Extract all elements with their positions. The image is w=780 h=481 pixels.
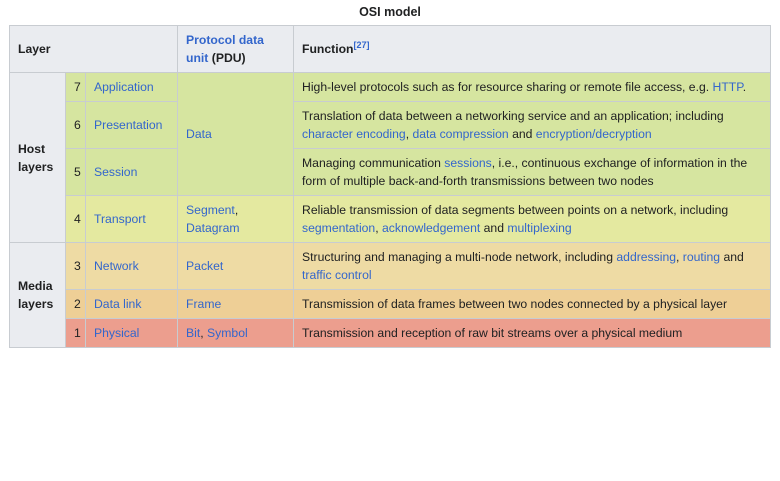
layer-name-data-link[interactable]: Data link [86, 290, 178, 319]
function-6-link-1[interactable]: character encoding [302, 127, 406, 141]
function-7-link-1[interactable]: HTTP [713, 80, 743, 94]
pdu-2-link-0[interactable]: Frame [186, 297, 221, 311]
table-row: 2Data linkFrameTransmission of data fram… [10, 290, 771, 319]
osi-model-table: Layer Protocol data unit (PDU) Function[… [9, 25, 771, 348]
function-3-text-4: and [720, 250, 744, 264]
layer-name-link[interactable]: Session [94, 165, 137, 179]
function-7-text-2: . [743, 80, 746, 94]
layer-name-network[interactable]: Network [86, 243, 178, 290]
layer-name-link[interactable]: Application [94, 80, 154, 94]
pdu-3-link-0[interactable]: Packet [186, 259, 223, 273]
reference-marker-27[interactable]: [27] [353, 40, 369, 50]
function-1-text-0: Transmission and reception of raw bit st… [302, 326, 682, 340]
table-body: Host layers7ApplicationDataHigh-level pr… [10, 73, 771, 348]
layer-number-5: 5 [66, 149, 86, 196]
function-4-text-4: and [480, 221, 507, 235]
function-layer-7: High-level protocols such as for resourc… [294, 73, 771, 102]
pdu-4-link-0[interactable]: Segment [186, 203, 235, 217]
function-layer-1: Transmission and reception of raw bit st… [294, 319, 771, 348]
layer-number-2: 2 [66, 290, 86, 319]
pdu-layer-1[interactable]: Bit, Symbol [178, 319, 294, 348]
function-5-link-1[interactable]: sessions [444, 156, 491, 170]
layer-name-link[interactable]: Physical [94, 326, 139, 340]
pdu-layer-4[interactable]: Segment, Datagram [178, 196, 294, 243]
layer-number-4: 4 [66, 196, 86, 243]
function-5-text-0: Managing communication [302, 156, 444, 170]
function-layer-2: Transmission of data frames between two … [294, 290, 771, 319]
layer-number-6: 6 [66, 102, 86, 149]
pdu-1-link-0[interactable]: Bit [186, 326, 200, 340]
function-3-text-2: , [676, 250, 683, 264]
column-header-pdu: Protocol data unit (PDU) [178, 26, 294, 73]
function-6-link-5[interactable]: encryption/decryption [536, 127, 652, 141]
table-row: 5SessionManaging communication sessions,… [10, 149, 771, 196]
layer-name-link[interactable]: Presentation [94, 118, 162, 132]
pdu-4-link-2[interactable]: Datagram [186, 221, 240, 235]
pdu-layer-3[interactable]: Packet [178, 243, 294, 290]
function-2-text-0: Transmission of data frames between two … [302, 297, 727, 311]
pdu-1-link-2[interactable]: Symbol [207, 326, 248, 340]
function-6-text-4: and [509, 127, 536, 141]
layer-name-session[interactable]: Session [86, 149, 178, 196]
function-3-link-1[interactable]: addressing [616, 250, 676, 264]
function-4-text-2: , [375, 221, 382, 235]
table-caption: OSI model [9, 0, 771, 25]
function-layer-3: Structuring and managing a multi-node ne… [294, 243, 771, 290]
layer-name-transport[interactable]: Transport [86, 196, 178, 243]
table-row: 6PresentationTranslation of data between… [10, 102, 771, 149]
pdu-data[interactable]: Data [178, 73, 294, 196]
function-layer-6: Translation of data between a networking… [294, 102, 771, 149]
layer-name-link[interactable]: Data link [94, 297, 141, 311]
function-layer-5: Managing communication sessions, i.e., c… [294, 149, 771, 196]
layer-name-link[interactable]: Network [94, 259, 139, 273]
function-7-text-0: High-level protocols such as for resourc… [302, 80, 713, 94]
function-header-label: Function [302, 42, 353, 56]
layer-number-7: 7 [66, 73, 86, 102]
layer-number-3: 3 [66, 243, 86, 290]
pdu-layer-2[interactable]: Frame [178, 290, 294, 319]
function-4-link-3[interactable]: acknowledgement [382, 221, 480, 235]
pdu-header-suffix: (PDU) [208, 51, 245, 65]
column-header-function: Function[27] [294, 26, 771, 73]
group-label-media-layers: Media layers [10, 243, 66, 348]
layer-name-link[interactable]: Transport [94, 212, 146, 226]
function-3-link-5[interactable]: traffic control [302, 268, 372, 282]
table-row: 4TransportSegment, DatagramReliable tran… [10, 196, 771, 243]
column-header-layer: Layer [10, 26, 178, 73]
group-label-host-layers: Host layers [10, 73, 66, 243]
table-row: Host layers7ApplicationDataHigh-level pr… [10, 73, 771, 102]
table-header-row: Layer Protocol data unit (PDU) Function[… [10, 26, 771, 73]
function-4-text-0: Reliable transmission of data segments b… [302, 203, 728, 217]
table-row: Media layers3NetworkPacketStructuring an… [10, 243, 771, 290]
pdu-link[interactable]: Data [186, 127, 212, 141]
function-3-text-0: Structuring and managing a multi-node ne… [302, 250, 616, 264]
osi-model-figure: OSI model Layer Protocol data unit (PDU)… [0, 0, 780, 481]
function-layer-4: Reliable transmission of data segments b… [294, 196, 771, 243]
function-6-text-0: Translation of data between a networking… [302, 109, 724, 123]
function-6-link-3[interactable]: data compression [412, 127, 508, 141]
layer-name-presentation[interactable]: Presentation [86, 102, 178, 149]
pdu-4-text-1: , [235, 203, 238, 217]
table-row: 1PhysicalBit, SymbolTransmission and rec… [10, 319, 771, 348]
function-3-link-3[interactable]: routing [683, 250, 720, 264]
layer-name-application[interactable]: Application [86, 73, 178, 102]
layer-number-1: 1 [66, 319, 86, 348]
function-4-link-5[interactable]: multiplexing [507, 221, 571, 235]
layer-name-physical[interactable]: Physical [86, 319, 178, 348]
function-4-link-1[interactable]: segmentation [302, 221, 375, 235]
